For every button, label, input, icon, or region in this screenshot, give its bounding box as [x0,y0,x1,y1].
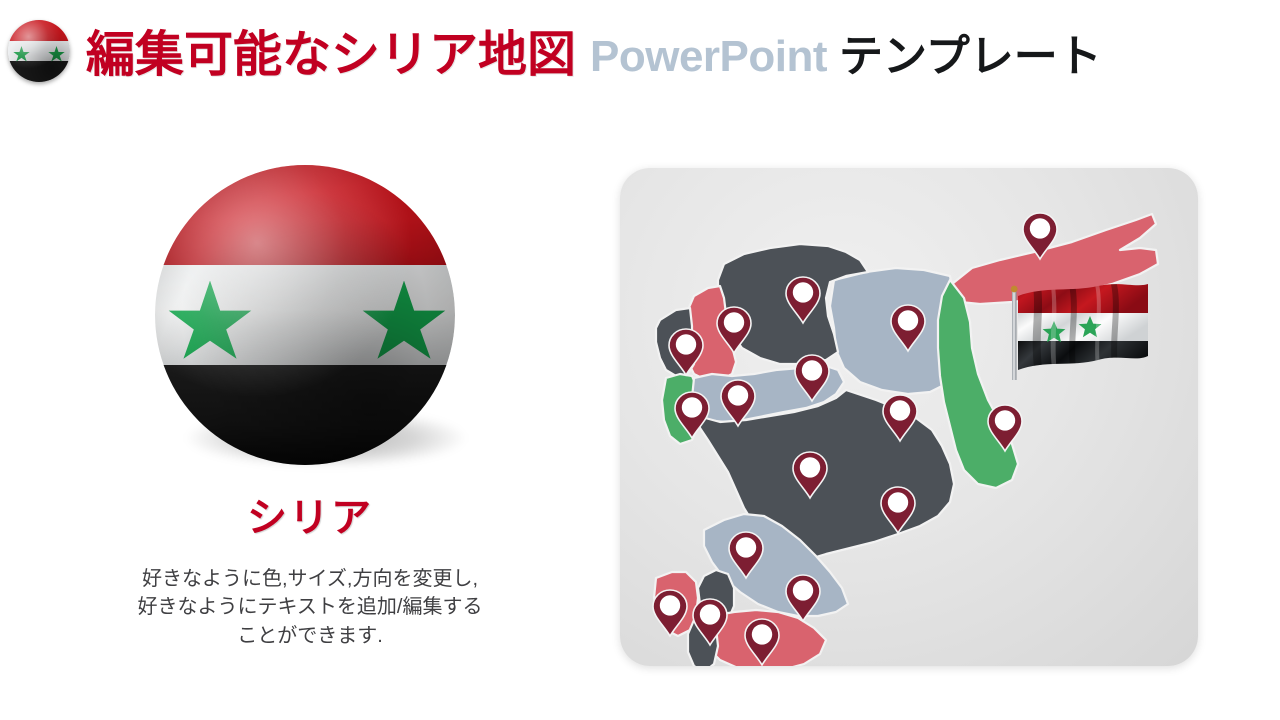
flag-stripe-black [1012,341,1150,380]
map-pin-dot [898,310,918,330]
flag-sphere-illustration [155,165,465,475]
description-text: 好きなように色,サイズ,方向を変更し, 好きなようにテキストを追加/編集する こ… [72,565,548,650]
page-header: 編集可能なシリア地図 PowerPoint テンプレート [0,0,1280,100]
syria-regions-map[interactable] [620,168,1198,666]
flag-cloth [1012,280,1150,380]
map-pin-dot [728,385,748,405]
map-pin-dot [700,604,720,624]
flag-band-red [155,165,455,265]
map-pin-dot [793,282,813,302]
flag-pole [1012,290,1017,380]
flag-stripe-white [1012,313,1150,341]
map-pin-dot [1030,218,1050,238]
map-pin-dot [676,334,696,354]
map-pin-dot [752,624,772,644]
syria-flag-sphere-icon [8,20,70,82]
map-pin-dot [800,457,820,477]
map-pin-dot [736,537,756,557]
title-product-text: PowerPoint [590,32,827,82]
map-pin-dot [995,410,1015,430]
title-main-text: 編集可能なシリア地図 [86,15,576,86]
map-pin-dot [890,400,910,420]
page-title: 編集可能なシリア地図 PowerPoint テンプレート [86,15,1102,86]
country-caption: シリア [0,485,620,543]
title-suffix-text: テンプレート [839,20,1102,84]
description-line-2: 好きなようにテキストを追加/編集する [72,593,548,621]
map-pin-dot [888,492,908,512]
sphere-shading [8,20,70,82]
flag-stripe-red [1012,280,1150,313]
flag-pole-finial [1011,286,1018,293]
map-pin-dot [802,360,822,380]
description-line-1: 好きなように色,サイズ,方向を変更し, [72,565,548,593]
description-line-3: ことができます. [72,622,548,650]
left-panel: シリア 好きなように色,サイズ,方向を変更し, 好きなようにテキストを追加/編集… [0,110,620,720]
syria-waving-flag-icon [998,280,1150,380]
map-pin-dot [724,312,744,332]
syria-flag-sphere [155,165,455,465]
map-pin-dot [660,595,680,615]
flag-band-black [155,365,455,465]
syria-map-card[interactable] [620,168,1198,666]
map-pin-dot [682,397,702,417]
map-pin-dot [793,580,813,600]
